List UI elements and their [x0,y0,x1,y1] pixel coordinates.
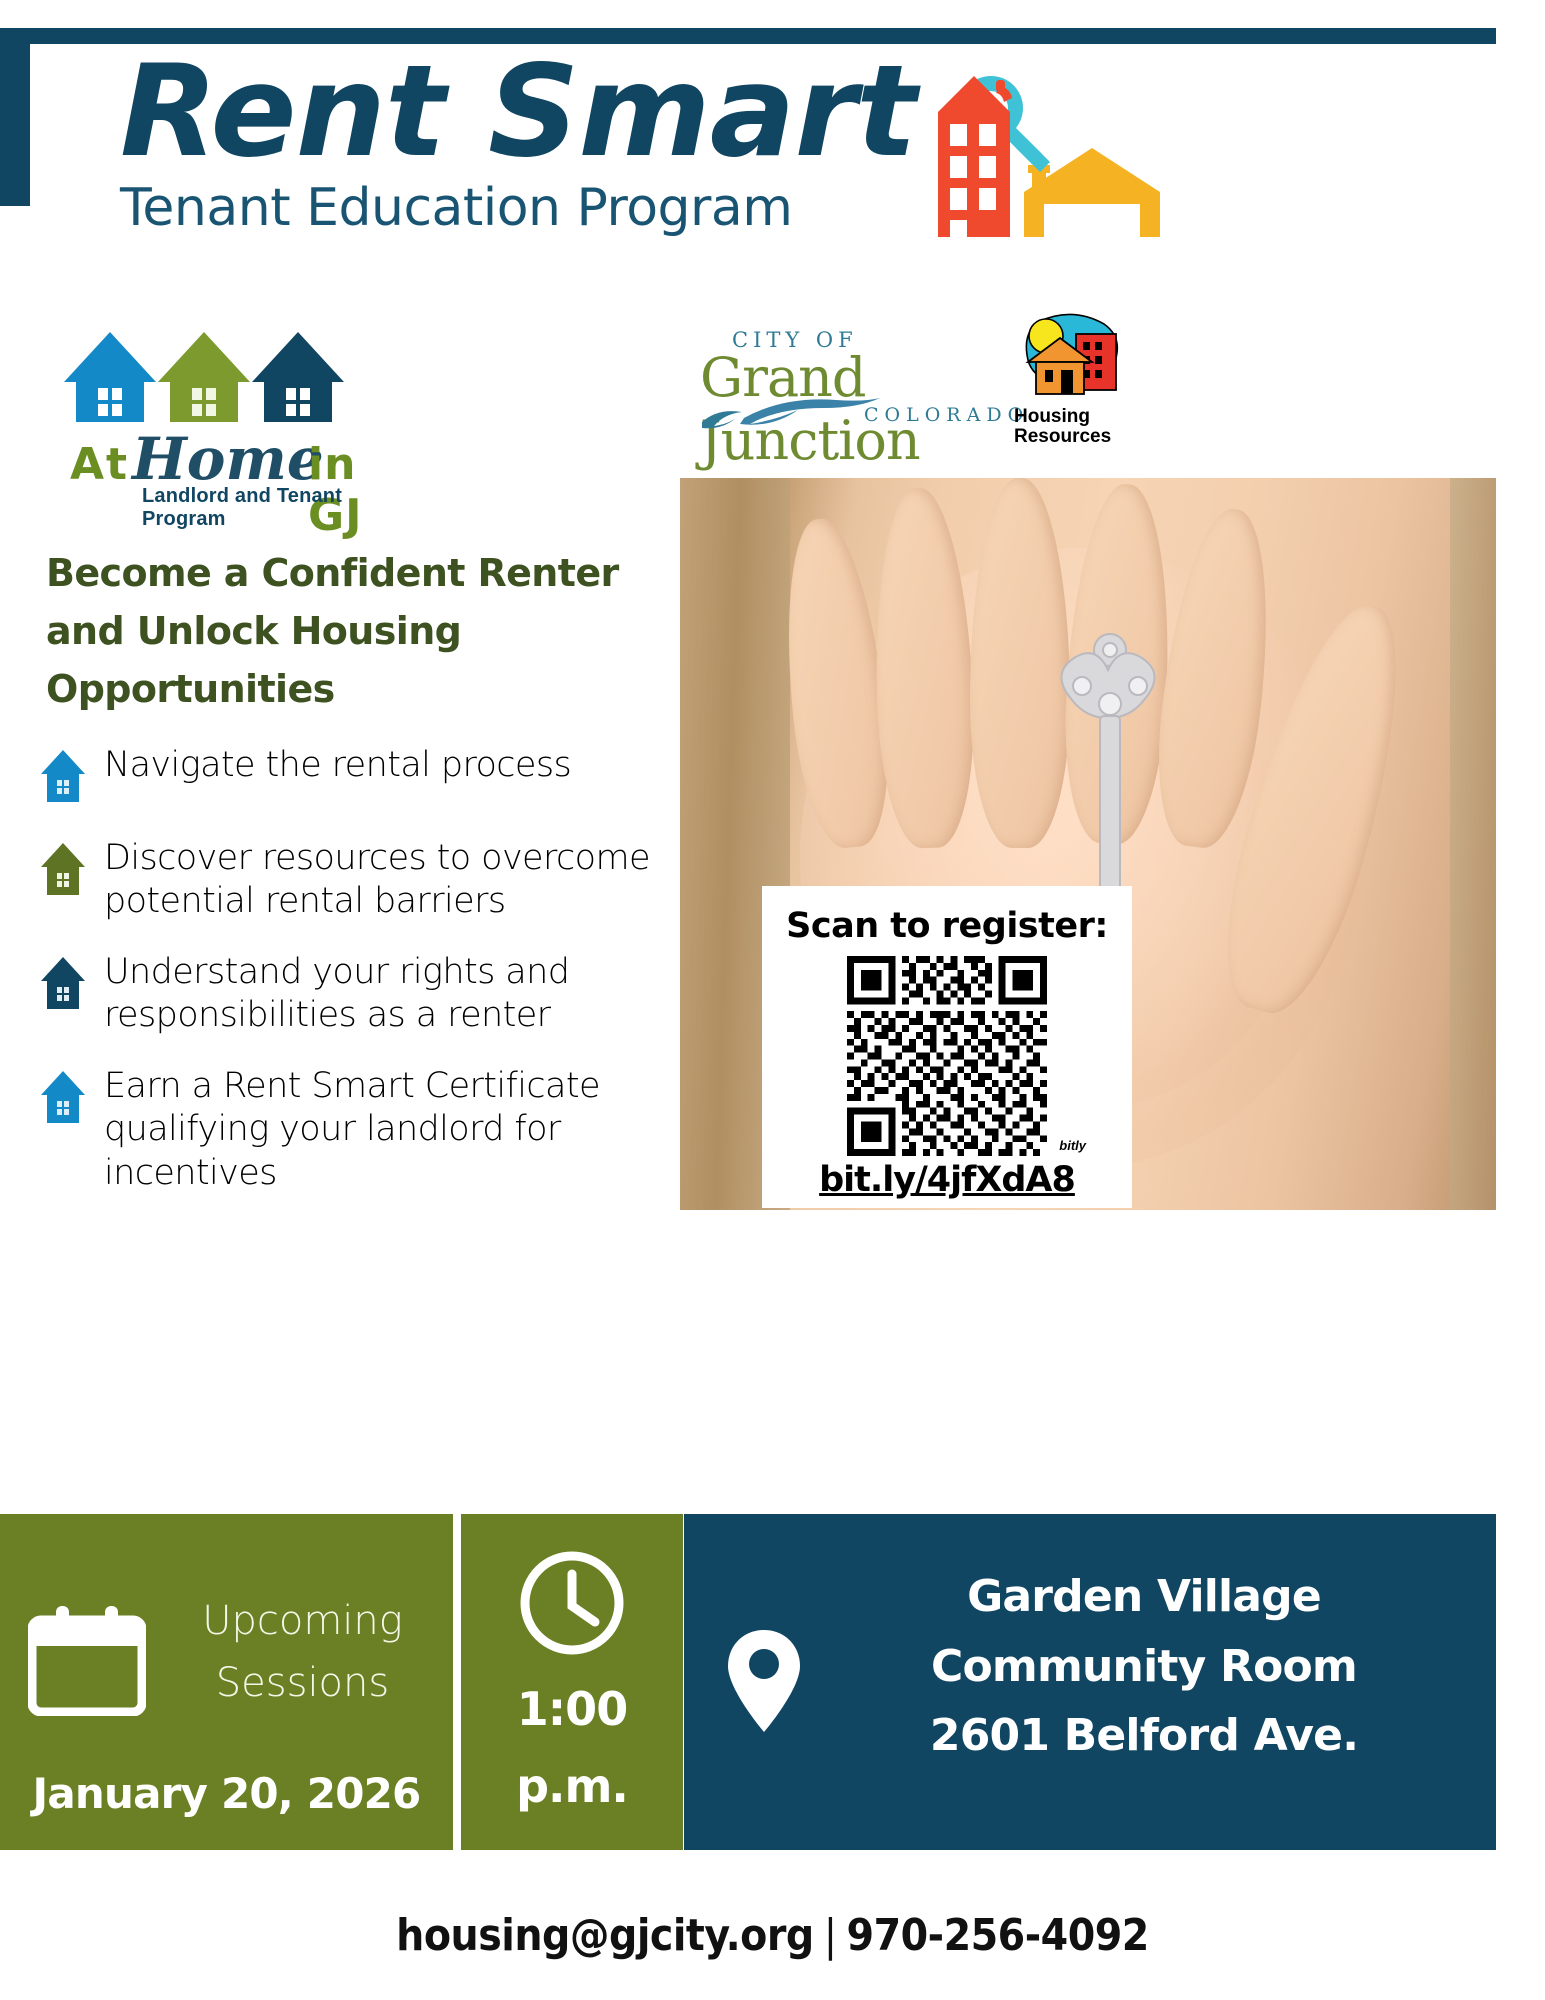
calendar-icon [28,1604,146,1721]
list-item: Earn a Rent Smart Certificate qualifying… [40,1065,680,1194]
main-content: Become a Confident Renter and Unlock Hou… [0,510,680,1223]
header-banner: Rent Smart Tenant Education Program [0,0,1545,268]
housing-resources-label: Housing Resources [1014,407,1132,447]
wood-background-right [1450,478,1496,1210]
list-item-label: Discover resources to overcome potential… [104,837,674,923]
list-item: Understand your rights and responsibilit… [40,951,680,1037]
list-item: Navigate the rental process [40,744,680,809]
content-headline: Become a Confident Renter and Unlock Hou… [46,545,666,718]
hr-line-1: Housing [1014,407,1132,427]
session-location-panel: Garden Village Community Room 2601 Belfo… [684,1514,1496,1850]
house-bullet-icon [40,1069,86,1130]
list-item-label: Navigate the rental process [104,744,571,787]
city-state: COLORADO [864,404,1029,426]
river-swoosh-icon [700,386,880,438]
at-home-in-gj-logo: At Home in GJ Landlord and Tenant Progra… [60,302,390,501]
at-home-word-at: At [70,439,129,490]
list-item-label: Understand your rights and responsibilit… [104,951,674,1037]
session-date-panel: Upcoming Sessions January 20, 2026 [0,1514,453,1850]
session-time-ampm: p.m. [461,1759,683,1813]
logos-row: At Home in GJ Landlord and Tenant Progra… [0,280,1545,480]
footer-contact-line: housing@gjcity.org|970-256-4092 [396,1910,1149,1961]
benefits-list: Navigate the rental process Discover res… [40,744,680,1194]
house-bullet-icon [40,955,86,1016]
registration-link[interactable]: bit.ly/4jfXdA8 [762,1160,1132,1200]
house-bullet-icon [40,748,86,809]
map-pin-icon [724,1626,804,1741]
contact-separator: | [824,1910,837,1961]
location-line-2: Community Room [814,1632,1474,1702]
contact-phone[interactable]: 970-256-4092 [847,1910,1149,1961]
clock-icon [517,1548,627,1663]
session-time-panel: 1:00 p.m. [461,1514,683,1850]
session-heading: Upcoming Sessions [170,1590,435,1714]
bitly-watermark: bitly [1059,1138,1086,1153]
contact-email[interactable]: housing@gjcity.org [396,1910,814,1961]
qr-code-icon[interactable] [847,956,1047,1156]
house-bullet-icon [40,841,86,902]
location-line-3: 2601 Belford Ave. [814,1701,1474,1771]
at-home-word-home: Home [132,425,324,493]
three-houses-icon [60,302,345,427]
header-navy-left-rule [0,28,30,206]
session-time: 1:00 [461,1682,683,1736]
sun-house-building-icon [1012,308,1124,400]
qr-registration-card[interactable]: Scan to register: [762,886,1132,1208]
footer-contact: housing@gjcity.org|970-256-4092 [0,1870,1545,2000]
city-of-grand-junction-logo: CITY OF Grand Junction COLORADO [700,328,1000,438]
list-item-label: Earn a Rent Smart Certificate qualifying… [104,1065,674,1194]
building-key-house-icon [932,52,1167,242]
qr-card-title: Scan to register: [762,886,1132,946]
list-item: Discover resources to overcome potential… [40,837,680,923]
housing-resources-logo: Housing Resources [1012,308,1132,447]
location-address: Garden Village Community Room 2601 Belfo… [814,1562,1474,1771]
session-date: January 20, 2026 [0,1769,453,1818]
hr-line-2: Resources [1014,427,1132,447]
location-line-1: Garden Village [814,1562,1474,1632]
